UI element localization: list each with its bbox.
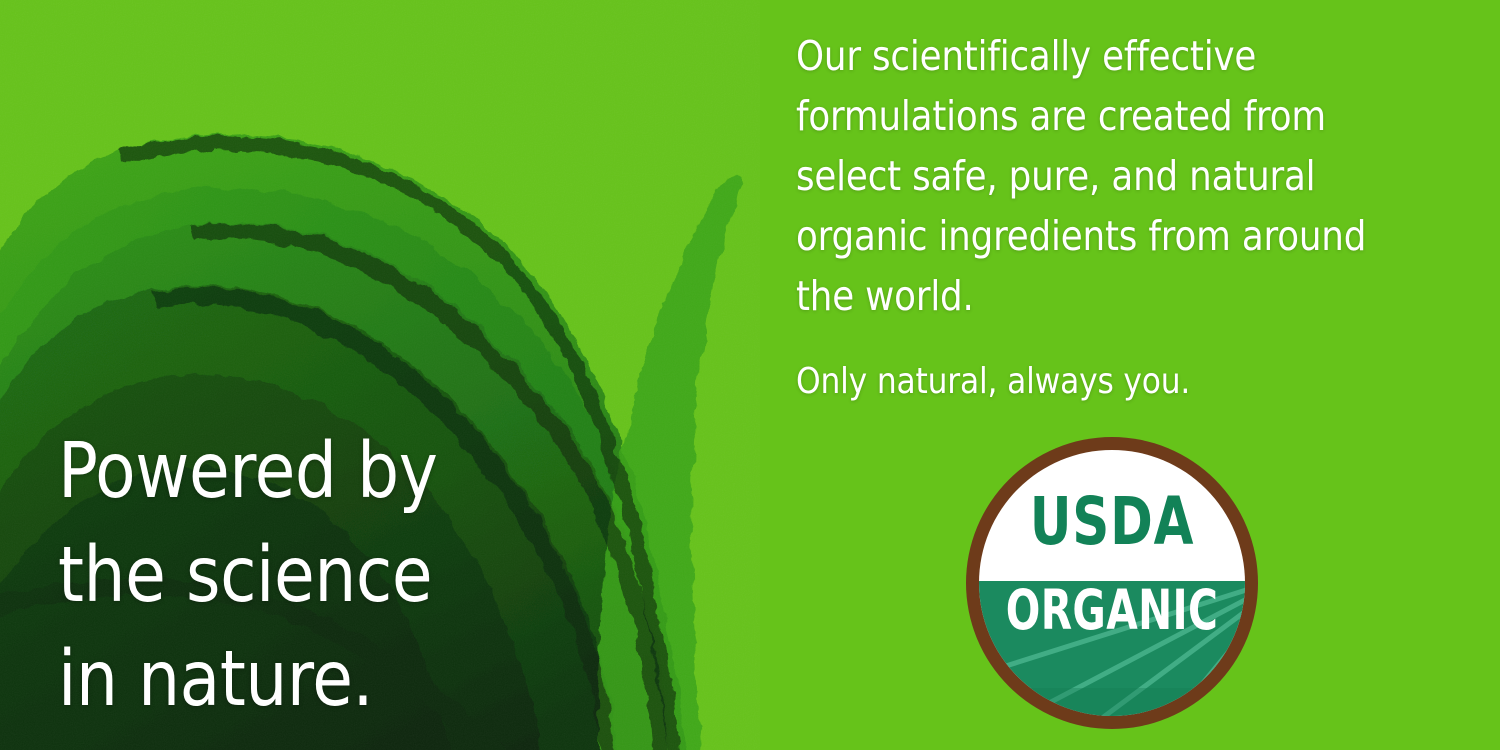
- brand-banner: Powered by the science in nature. Our sc…: [0, 0, 1500, 750]
- usda-organic-seal: USDA ORGANIC: [962, 433, 1262, 733]
- body-paragraph: Our scientifically effective formulation…: [796, 26, 1405, 326]
- page-title: Powered by the science in nature.: [58, 420, 626, 732]
- tagline: Only natural, always you.: [796, 358, 1405, 406]
- copy-column: Our scientifically effective formulation…: [796, 26, 1406, 406]
